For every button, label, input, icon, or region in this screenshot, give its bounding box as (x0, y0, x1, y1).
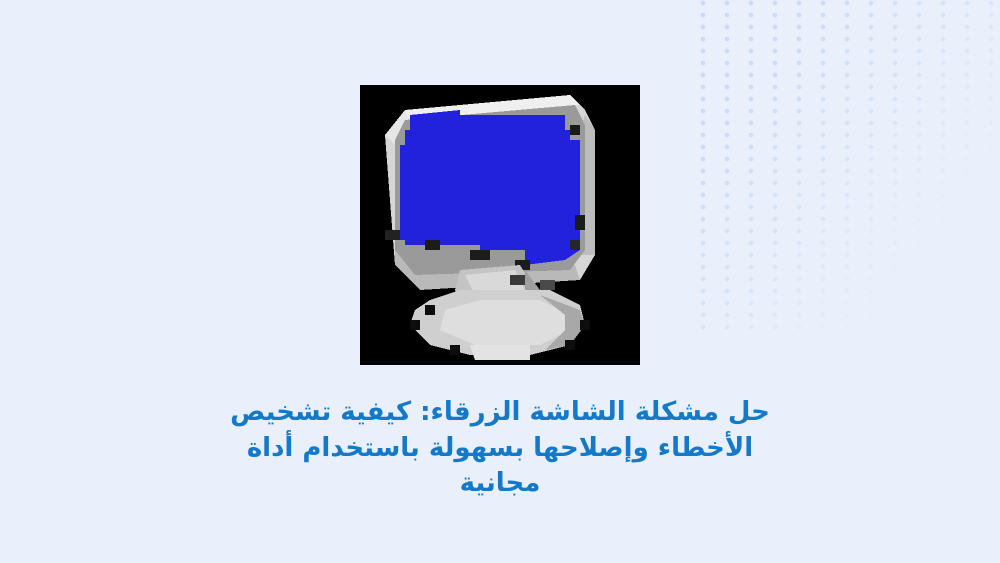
article-title-line-2: الأخطاء وإصلاحها بسهولة باستخدام أداة (210, 431, 790, 466)
article-card: حل مشكلة الشاشة الزرقاء: كيفية تشخيص الأ… (0, 0, 1000, 563)
article-title-line-1: حل مشكلة الشاشة الزرقاء: كيفية تشخيص (210, 395, 790, 430)
card-content: حل مشكلة الشاشة الزرقاء: كيفية تشخيص الأ… (0, 0, 1000, 563)
article-title: حل مشكلة الشاشة الزرقاء: كيفية تشخيص الأ… (210, 395, 790, 501)
blue-screen-monitor-thumbnail (360, 85, 640, 365)
article-title-line-3: مجانية (210, 466, 790, 501)
